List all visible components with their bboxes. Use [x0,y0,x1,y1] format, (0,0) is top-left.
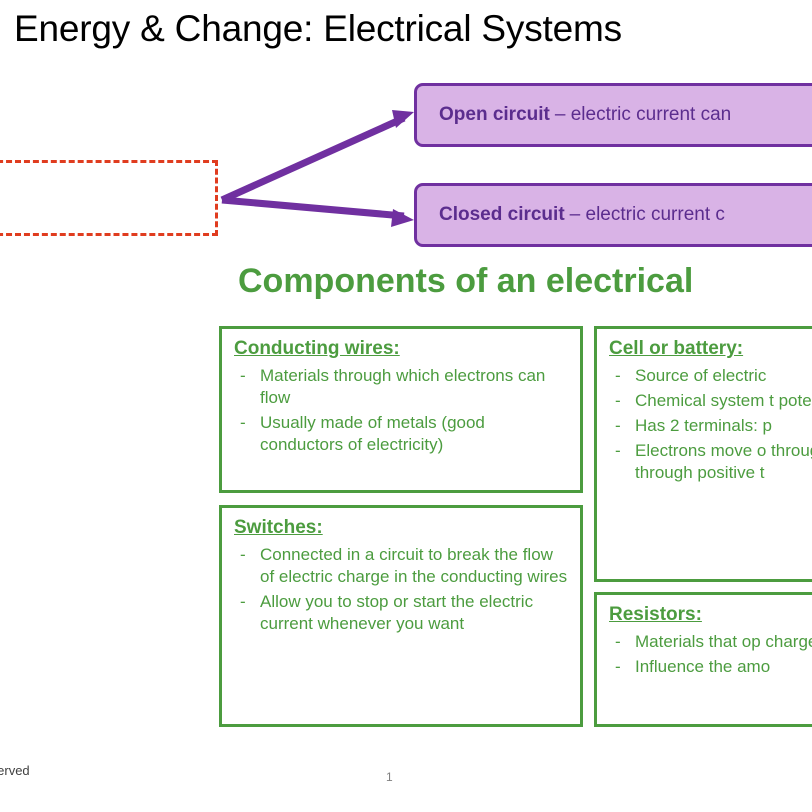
open-circuit-dash: – [555,104,566,126]
open-circuit-text: electric current can [571,104,732,126]
components-heading: Components of an electrical [238,262,693,301]
left-red-heading-line2: ity [0,90,182,130]
list-item: Connected in a circuit to break the flow… [234,544,570,588]
definition-dashed-box: lectric charge to nother = a circuit [0,160,218,236]
left-red-heading: urrent ity [0,50,182,131]
left-bullet-8: ces function te circuit when r source (c… [0,491,195,592]
arrow-to-closed-circuit-line [222,200,404,216]
closed-circuit-term: Closed circuit [439,204,565,226]
open-circuit-box: Open circuit – electric current can [414,83,812,147]
list-item: Usually made of metals (good conductors … [234,412,570,456]
resistors-list: Materials that op charge in a circuit In… [609,631,812,678]
list-item: Source of electric [609,365,812,387]
cell-or-battery-title: Cell or battery: [609,337,812,362]
closed-circuit-box: Closed circuit – electric current c [414,183,812,247]
list-item: Allow you to stop or start the electric … [234,591,570,635]
conducting-wires-title: Conducting wires: [234,337,570,362]
switches-title: Switches: [234,516,570,541]
cell-or-battery-box: Cell or battery: Source of electric Chem… [594,326,812,582]
left-bullet-1: harge in a circuit urrent [0,258,195,309]
arrow-to-closed-circuit-head [391,209,414,227]
open-circuit-term: Open circuit [439,104,550,126]
left-bullet-column: harge in a circuit urrent ectrical energ… [0,258,195,606]
conducting-wires-list: Materials through which electrons can fl… [234,365,570,456]
list-item: Has 2 terminals: p [609,415,812,437]
arrow-to-open-circuit-head [392,110,414,128]
left-bullet-4: m the cell is ical energy [0,362,195,413]
closed-circuit-text: electric current c [586,204,725,226]
slide-canvas: Energy & Change: Electrical Systems urre… [0,0,812,812]
conducting-wires-box: Conducting wires: Materials through whic… [219,326,583,493]
page-title: Energy & Change: Electrical Systems [14,8,622,50]
switches-list: Connected in a circuit to break the flow… [234,544,570,635]
list-item: Materials that op charge in a circuit [609,631,812,653]
definition-line-2: nother = a circuit [0,198,203,223]
left-red-heading-line1: urrent [0,50,182,90]
list-item: Influence the amo [609,656,812,678]
resistors-title: Resistors: [609,603,812,628]
resistors-box: Resistors: Materials that op charge in a… [594,592,812,727]
closed-circuit-dash: – [570,204,581,226]
arrow-to-open-circuit-line [222,118,404,200]
switches-box: Switches: Connected in a circuit to brea… [219,505,583,727]
list-item: Electrons move o through connecti throug… [609,440,812,484]
list-item: Materials through which electrons can fl… [234,365,570,409]
cell-or-battery-list: Source of electric Chemical system t pot… [609,365,812,484]
definition-line-1: lectric charge to [0,173,203,198]
left-bullet-6: onverted to light he bulb [0,426,195,477]
list-item: Chemical system t potential energy [609,390,812,412]
left-bullet-3: ectrical energy [0,323,195,348]
page-number: 1 [386,770,393,784]
copyright-footer: ights reserved [0,763,30,778]
